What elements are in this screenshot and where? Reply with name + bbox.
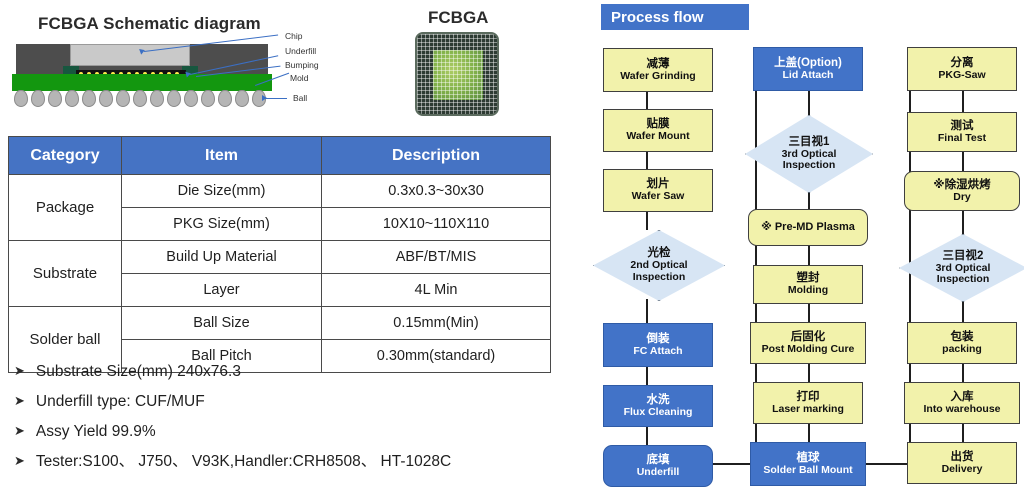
flow-node-delivery[interactable]: 出货 Delivery: [907, 442, 1017, 484]
header-item: Item: [122, 137, 322, 175]
flow-node-wafer-mount[interactable]: 贴膜 Wafer Mount: [603, 109, 713, 152]
flow-node-lid-attach[interactable]: 上盖(Option) Lid Attach: [753, 47, 863, 91]
connector: [808, 91, 810, 115]
list-item-label: Assy Yield 99.9%: [36, 422, 156, 442]
cell-category: Substrate: [9, 241, 122, 307]
bullet-marker-icon: ➤: [14, 392, 25, 410]
list-item-label: Underfill type: CUF/MUF: [36, 392, 205, 412]
list-item: ➤ Assy Yield 99.9%: [14, 422, 574, 442]
process-flow-diagram: 减薄 Wafer Grinding 贴膜 Wafer Mount 划片 Wafe…: [590, 0, 1024, 499]
flow-node-underfill[interactable]: 底填 Underfill: [603, 445, 713, 487]
connector: [646, 427, 648, 445]
connector: [962, 364, 964, 382]
connector: [646, 212, 648, 230]
cell-category: Package: [9, 175, 122, 241]
table-header-row: Category Item Description: [9, 137, 551, 175]
flow-node-fc-attach[interactable]: 倒装 FC Attach: [603, 323, 713, 367]
header-description: Description: [322, 137, 551, 175]
flow-node-dry[interactable]: ※除湿烘烤 Dry: [904, 171, 1020, 211]
flow-node-wafer-saw[interactable]: 划片 Wafer Saw: [603, 169, 713, 212]
cell-description: 4L Min: [322, 274, 551, 307]
flow-node-packing[interactable]: 包装 packing: [907, 322, 1017, 364]
connector: [808, 191, 810, 209]
flow-node-into-warehouse[interactable]: 入库 Into warehouse: [904, 382, 1020, 424]
label-underfill: Underfill: [285, 46, 316, 56]
flow-node-3rd-optical-inspection-1[interactable]: 三目视1 3rd Optical Inspection: [745, 115, 873, 193]
flow-node-pre-md-plasma[interactable]: ※ Pre-MD Plasma: [748, 209, 868, 246]
connector: [808, 364, 810, 382]
connector: [646, 299, 648, 323]
cell-item: Die Size(mm): [122, 175, 322, 208]
flow-node-2nd-optical-inspection[interactable]: 光检 2nd Optical Inspection: [593, 230, 725, 301]
connector: [962, 211, 964, 234]
bullet-marker-icon: ➤: [14, 422, 25, 440]
photo-title: FCBGA: [428, 8, 488, 28]
flow-node-wafer-grinding[interactable]: 减薄 Wafer Grinding: [603, 48, 713, 92]
list-item: ➤ Substrate Size(mm) 240x76.3: [14, 362, 574, 382]
table-row: Package Die Size(mm) 0.3x0.3~30x30: [9, 175, 551, 208]
leader-ball-arrow: [262, 95, 267, 101]
list-item-label: Substrate Size(mm) 240x76.3: [36, 362, 241, 382]
list-item-label: Tester:S100、 J750、 V93K,Handler:CRH8508、…: [36, 452, 451, 472]
connector: [808, 424, 810, 442]
connector: [863, 463, 911, 465]
label-bumping: Bumping: [285, 60, 319, 70]
connector: [808, 246, 810, 265]
flow-node-flux-cleaning[interactable]: 水洗 Flux Cleaning: [603, 385, 713, 427]
label-mold: Mold: [290, 73, 308, 83]
label-chip: Chip: [285, 31, 302, 41]
connector: [962, 300, 964, 322]
cell-description: 0.15mm(Min): [322, 307, 551, 340]
connector: [808, 304, 810, 322]
header-category: Category: [9, 137, 122, 175]
bullet-list: ➤ Substrate Size(mm) 240x76.3 ➤ Underfil…: [14, 362, 574, 483]
flow-node-final-test[interactable]: 测试 Final Test: [907, 112, 1017, 152]
flow-node-laser-marking[interactable]: 打印 Laser marking: [753, 382, 863, 424]
table-row: Solder ball Ball Size 0.15mm(Min): [9, 307, 551, 340]
cell-item: Layer: [122, 274, 322, 307]
list-item: ➤ Underfill type: CUF/MUF: [14, 392, 574, 412]
list-item: ➤ Tester:S100、 J750、 V93K,Handler:CRH850…: [14, 452, 574, 472]
flow-node-solder-ball-mount[interactable]: 植球 Solder Ball Mount: [750, 442, 866, 486]
flow-node-3rd-optical-inspection-2[interactable]: 三目视2 3rd Optical Inspection: [899, 234, 1024, 302]
cell-item: PKG Size(mm): [122, 208, 322, 241]
schematic-title: FCBGA Schematic diagram: [38, 14, 261, 34]
cell-description: 0.3x0.3~30x30: [322, 175, 551, 208]
bullet-marker-icon: ➤: [14, 362, 25, 380]
connector: [962, 424, 964, 442]
flow-node-pkg-saw[interactable]: 分离 PKG-Saw: [907, 47, 1017, 91]
bullet-marker-icon: ➤: [14, 452, 25, 470]
flow-node-post-molding-cure[interactable]: 后固化 Post Molding Cure: [750, 322, 866, 364]
table-row: Substrate Build Up Material ABF/BT/MIS: [9, 241, 551, 274]
connector: [962, 91, 964, 112]
cell-item: Ball Size: [122, 307, 322, 340]
cell-item: Build Up Material: [122, 241, 322, 274]
connector: [962, 152, 964, 171]
fcbga-package-photo: [415, 32, 499, 116]
label-ball: Ball: [293, 93, 307, 103]
cell-description: ABF/BT/MIS: [322, 241, 551, 274]
specification-table: Category Item Description Package Die Si…: [8, 136, 551, 373]
flow-node-molding[interactable]: 塑封 Molding: [753, 265, 863, 304]
connector: [646, 367, 648, 385]
substrate-layer: [12, 74, 272, 91]
cell-description: 10X10~110X110: [322, 208, 551, 241]
leader-ball: [265, 98, 287, 99]
